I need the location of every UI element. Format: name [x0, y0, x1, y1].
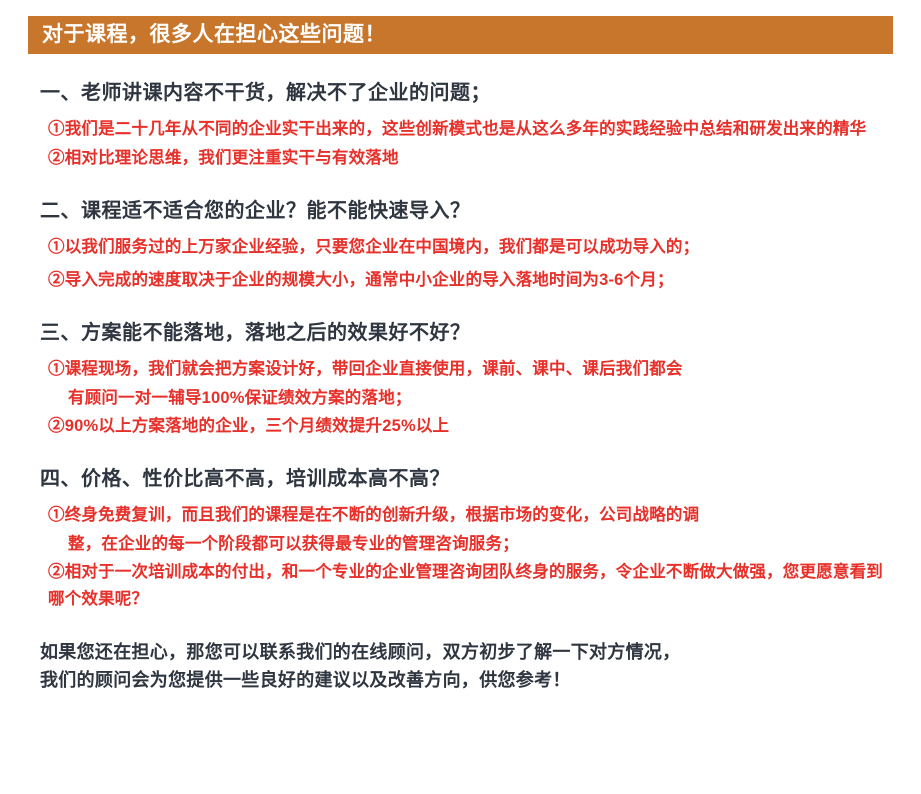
- faq-answer-2-1: ①以我们服务过的上万家企业经验，只要您企业在中国境内，我们都是可以成功导入的；: [48, 234, 887, 261]
- header-banner: 对于课程，很多人在担心这些问题！: [28, 16, 893, 54]
- faq-answer-1-1: ①我们是二十几年从不同的企业实干出来的，这些创新模式也是从这么多年的实践经验中总…: [48, 116, 887, 143]
- faq-question-4: 四、价格、性价比高不高，培训成本高不高？: [40, 466, 887, 492]
- faq-question-2: 二、课程适不适合您的企业？能不能快速导入？: [40, 198, 887, 224]
- faq-section-3: 三、方案能不能落地，落地之后的效果好不好？ ①课程现场，我们就会把方案设计好，带…: [40, 320, 887, 440]
- faq-answer-3-1: ①课程现场，我们就会把方案设计好，带回企业直接使用，课前、课中、课后我们都会: [48, 356, 887, 383]
- faq-answer-4-1: ①终身免费复训，而且我们的课程是在不断的创新升级，根据市场的变化，公司战略的调: [48, 502, 887, 529]
- faq-answer-4-1-cont: 整，在企业的每一个阶段都可以获得最专业的管理咨询服务；: [48, 531, 887, 558]
- faq-section-4: 四、价格、性价比高不高，培训成本高不高？ ①终身免费复训，而且我们的课程是在不断…: [40, 466, 887, 613]
- faq-answer-2-2: ②导入完成的速度取决于企业的规模大小，通常中小企业的导入落地时间为3-6个月；: [48, 267, 887, 294]
- faq-answer-4-2: ②相对于一次培训成本的付出，和一个专业的企业管理咨询团队终身的服务，令企业不断做…: [48, 559, 887, 612]
- closing-line-2: 我们的顾问会为您提供一些良好的建议以及改善方向，供您参考！: [40, 667, 887, 695]
- faq-answer-1-2: ②相对比理论思维，我们更注重实干与有效落地: [48, 145, 887, 172]
- faq-answer-3-1-cont: 有顾问一对一辅导100%保证绩效方案的落地；: [48, 385, 887, 412]
- faq-answer-3-1-cont-text: 有顾问一对一辅导100%保证绩效方案的落地；: [48, 385, 887, 412]
- faq-answer-4-1-cont-text: 整，在企业的每一个阶段都可以获得最专业的管理咨询服务；: [48, 531, 887, 558]
- closing-paragraph: 如果您还在担心，那您可以联系我们的在线顾问，双方初步了解一下对方情况， 我们的顾…: [40, 639, 887, 695]
- document-body: 一、老师讲课内容不干货，解决不了企业的问题； ①我们是二十几年从不同的企业实干出…: [0, 80, 921, 695]
- faq-section-2: 二、课程适不适合您的企业？能不能快速导入？ ①以我们服务过的上万家企业经验，只要…: [40, 198, 887, 293]
- document-page: 对于课程，很多人在担心这些问题！ 一、老师讲课内容不干货，解决不了企业的问题； …: [0, 16, 921, 794]
- closing-line-1: 如果您还在担心，那您可以联系我们的在线顾问，双方初步了解一下对方情况，: [40, 639, 887, 667]
- faq-section-1: 一、老师讲课内容不干货，解决不了企业的问题； ①我们是二十几年从不同的企业实干出…: [40, 80, 887, 172]
- faq-answer-3-2: ②90%以上方案落地的企业，三个月绩效提升25%以上: [48, 413, 887, 440]
- faq-question-1: 一、老师讲课内容不干货，解决不了企业的问题；: [40, 80, 887, 106]
- faq-question-3: 三、方案能不能落地，落地之后的效果好不好？: [40, 320, 887, 346]
